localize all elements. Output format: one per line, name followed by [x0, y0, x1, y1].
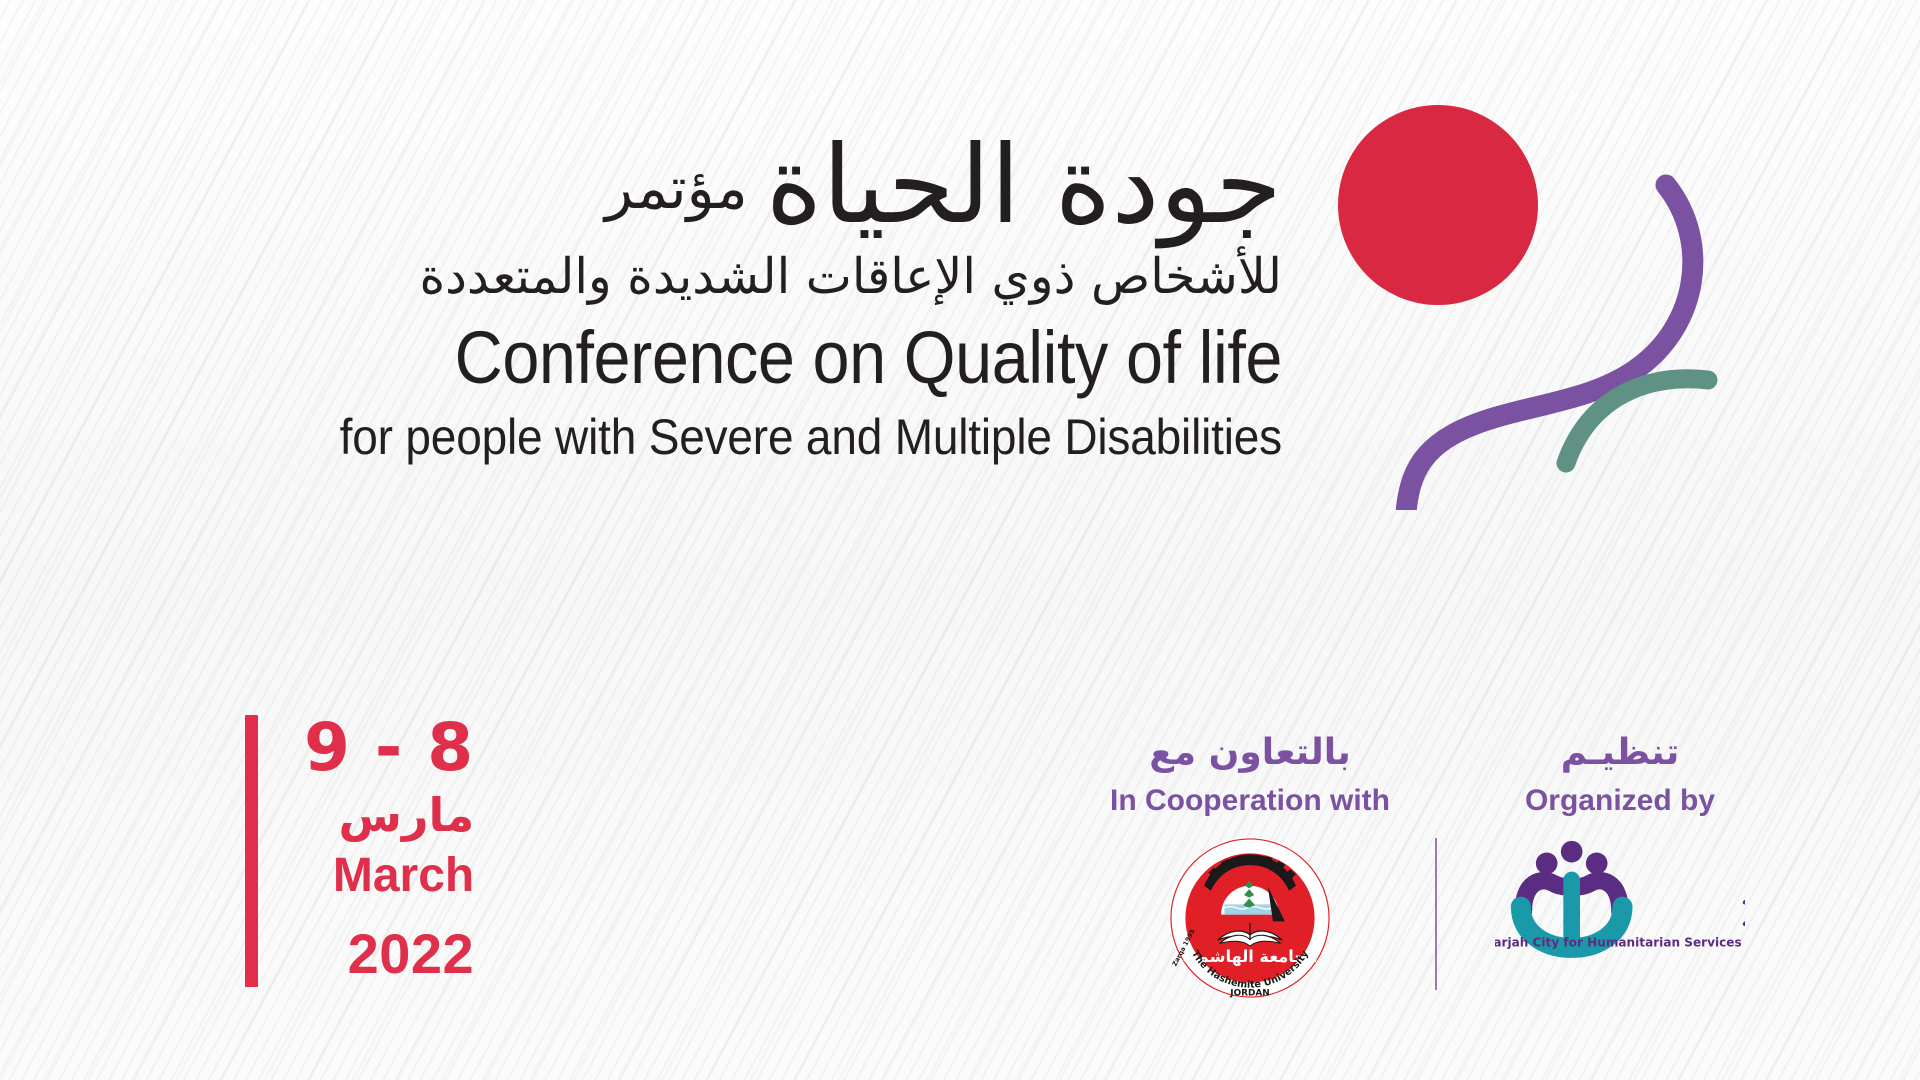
date-text-group: 9 - 8 مارس March 2022 [304, 715, 474, 987]
arabic-kicker-word: مؤتمر [605, 154, 748, 222]
date-month-arabic: مارس [338, 787, 474, 845]
scfhs-figure-mark [1521, 841, 1623, 948]
headline-block: جودة الحياةمؤتمر للأشخاص ذوي الإعاقات ال… [0, 128, 1290, 463]
date-accent-bar [245, 715, 258, 987]
english-subtitle: for people with Severe and Multiple Disa… [103, 411, 1282, 464]
scfhs-arabic-line2: للخدمات الإنسانية [1742, 912, 1745, 931]
english-title: Conference on Quality of life [128, 319, 1282, 397]
hu-country: JORDAN [1229, 988, 1269, 998]
hashemite-university-logo: الجامعة الهاشمية The Hashemite Universit… [1080, 830, 1420, 1005]
arabic-title: جودة الحياة [766, 123, 1282, 248]
date-block: 9 - 8 مارس March 2022 [245, 715, 474, 987]
scfhs-english-name: Sharjah City for Humanitarian Services [1495, 936, 1742, 950]
abstract-person-mark [1320, 90, 1720, 510]
organizer-label-arabic: تنظيـم [1450, 730, 1790, 775]
sharjah-city-humanitarian-services-logo: مدينة الشارقة للخدمات الإنسانية Sharjah … [1450, 830, 1790, 1005]
cooperation-label-arabic: بالتعاون مع [1080, 730, 1420, 775]
partners-block: بالتعاون مع In Cooperation with تنظيـم O… [1080, 730, 1800, 1030]
cooperation-label-english: In Cooperation with [1080, 781, 1420, 820]
date-days: 9 - 8 [304, 715, 474, 781]
decor-red-circle [1338, 105, 1538, 305]
organizer-column: تنظيـم Organized by [1450, 730, 1790, 820]
date-year: 2022 [348, 920, 475, 987]
conference-banner: جودة الحياةمؤتمر للأشخاص ذوي الإعاقات ال… [0, 0, 1920, 1080]
partner-divider [1435, 838, 1437, 990]
date-month-english: March [333, 847, 474, 905]
cooperation-column: بالتعاون مع In Cooperation with [1080, 730, 1420, 820]
arabic-title-row: جودة الحياةمؤتمر [0, 128, 1282, 245]
arabic-subtitle: للأشخاص ذوي الإعاقات الشديدة والمتعددة [0, 249, 1282, 305]
scfhs-arabic-line1: مدينة الشارقة [1742, 890, 1745, 909]
organizer-label-english: Organized by [1450, 781, 1790, 820]
